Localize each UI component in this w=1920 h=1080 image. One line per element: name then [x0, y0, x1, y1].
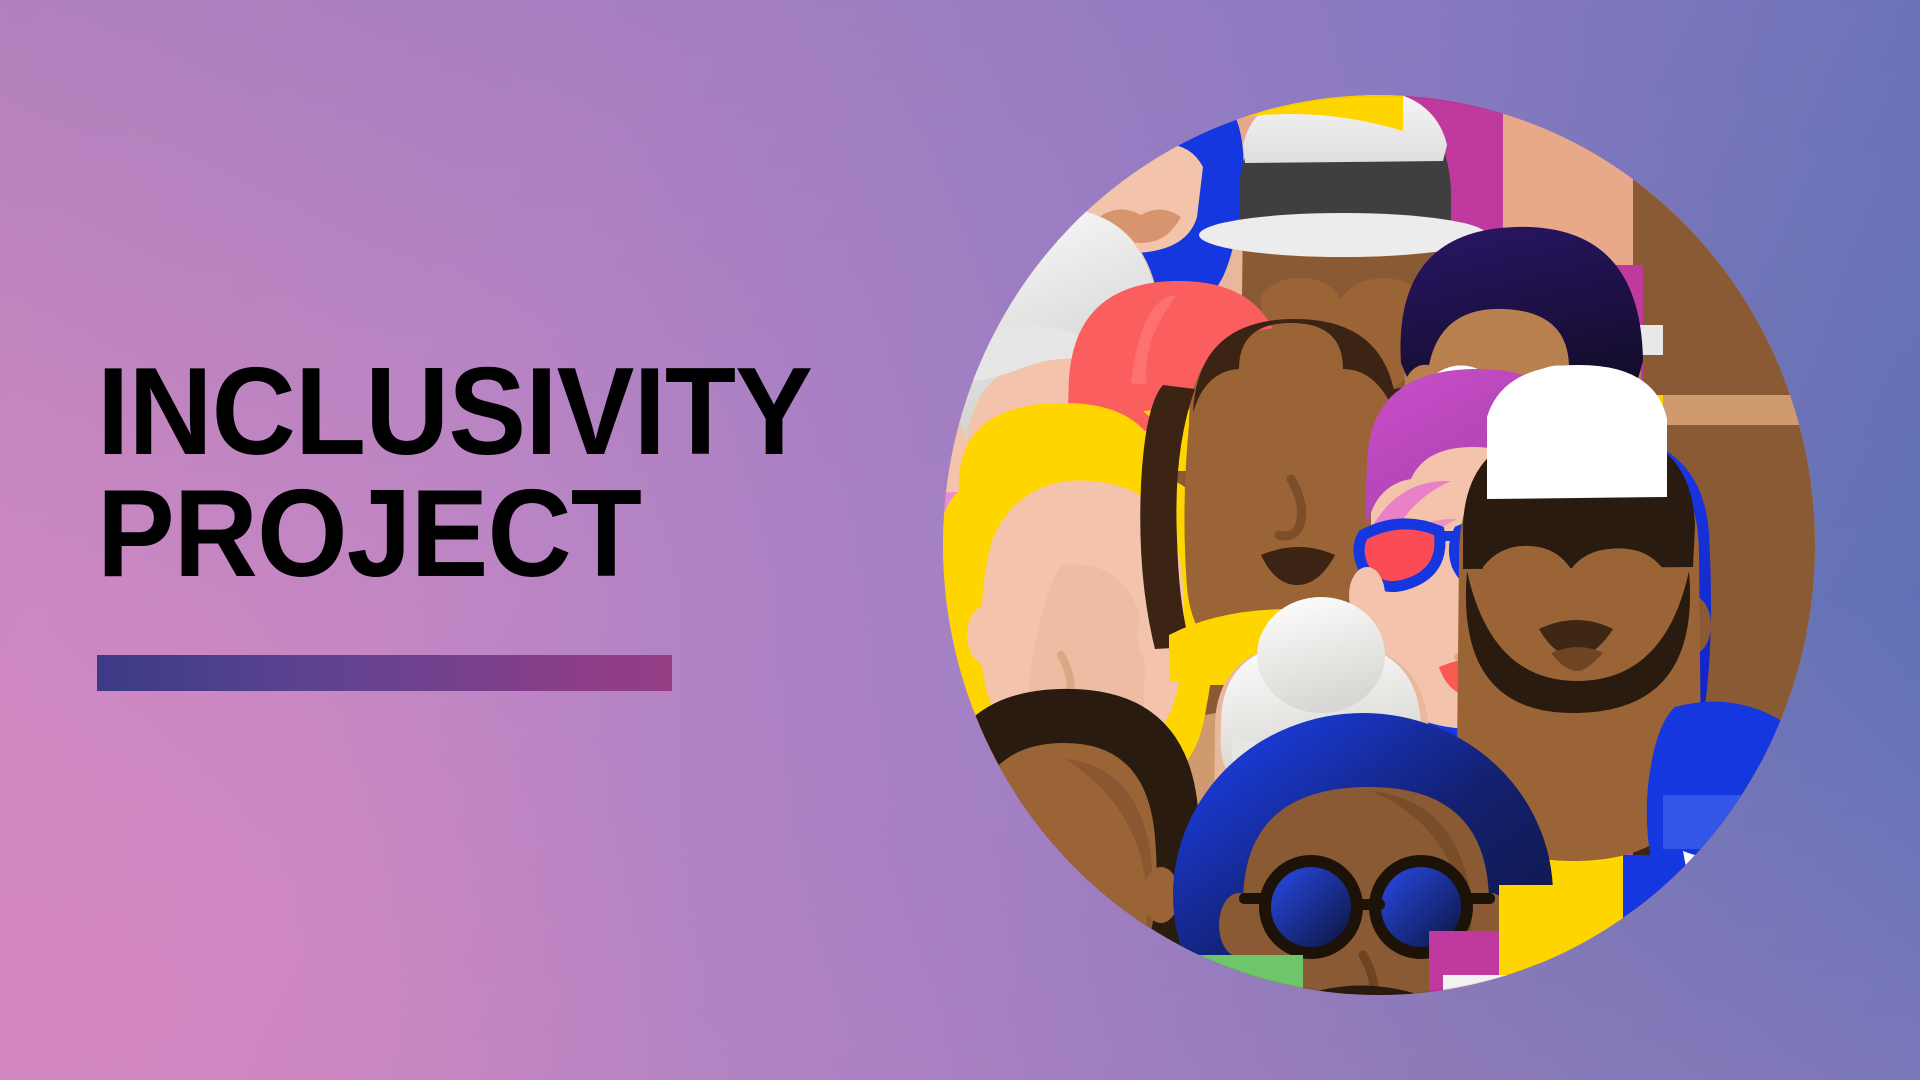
- people-collage-svg: [943, 95, 1815, 995]
- poster-canvas: INCLUSIVITY PROJECT: [0, 0, 1920, 1080]
- diverse-people-circle: [943, 95, 1815, 995]
- headline-block: INCLUSIVITY PROJECT: [97, 352, 877, 595]
- accent-bar: [97, 655, 672, 691]
- page-title: INCLUSIVITY PROJECT: [97, 352, 830, 595]
